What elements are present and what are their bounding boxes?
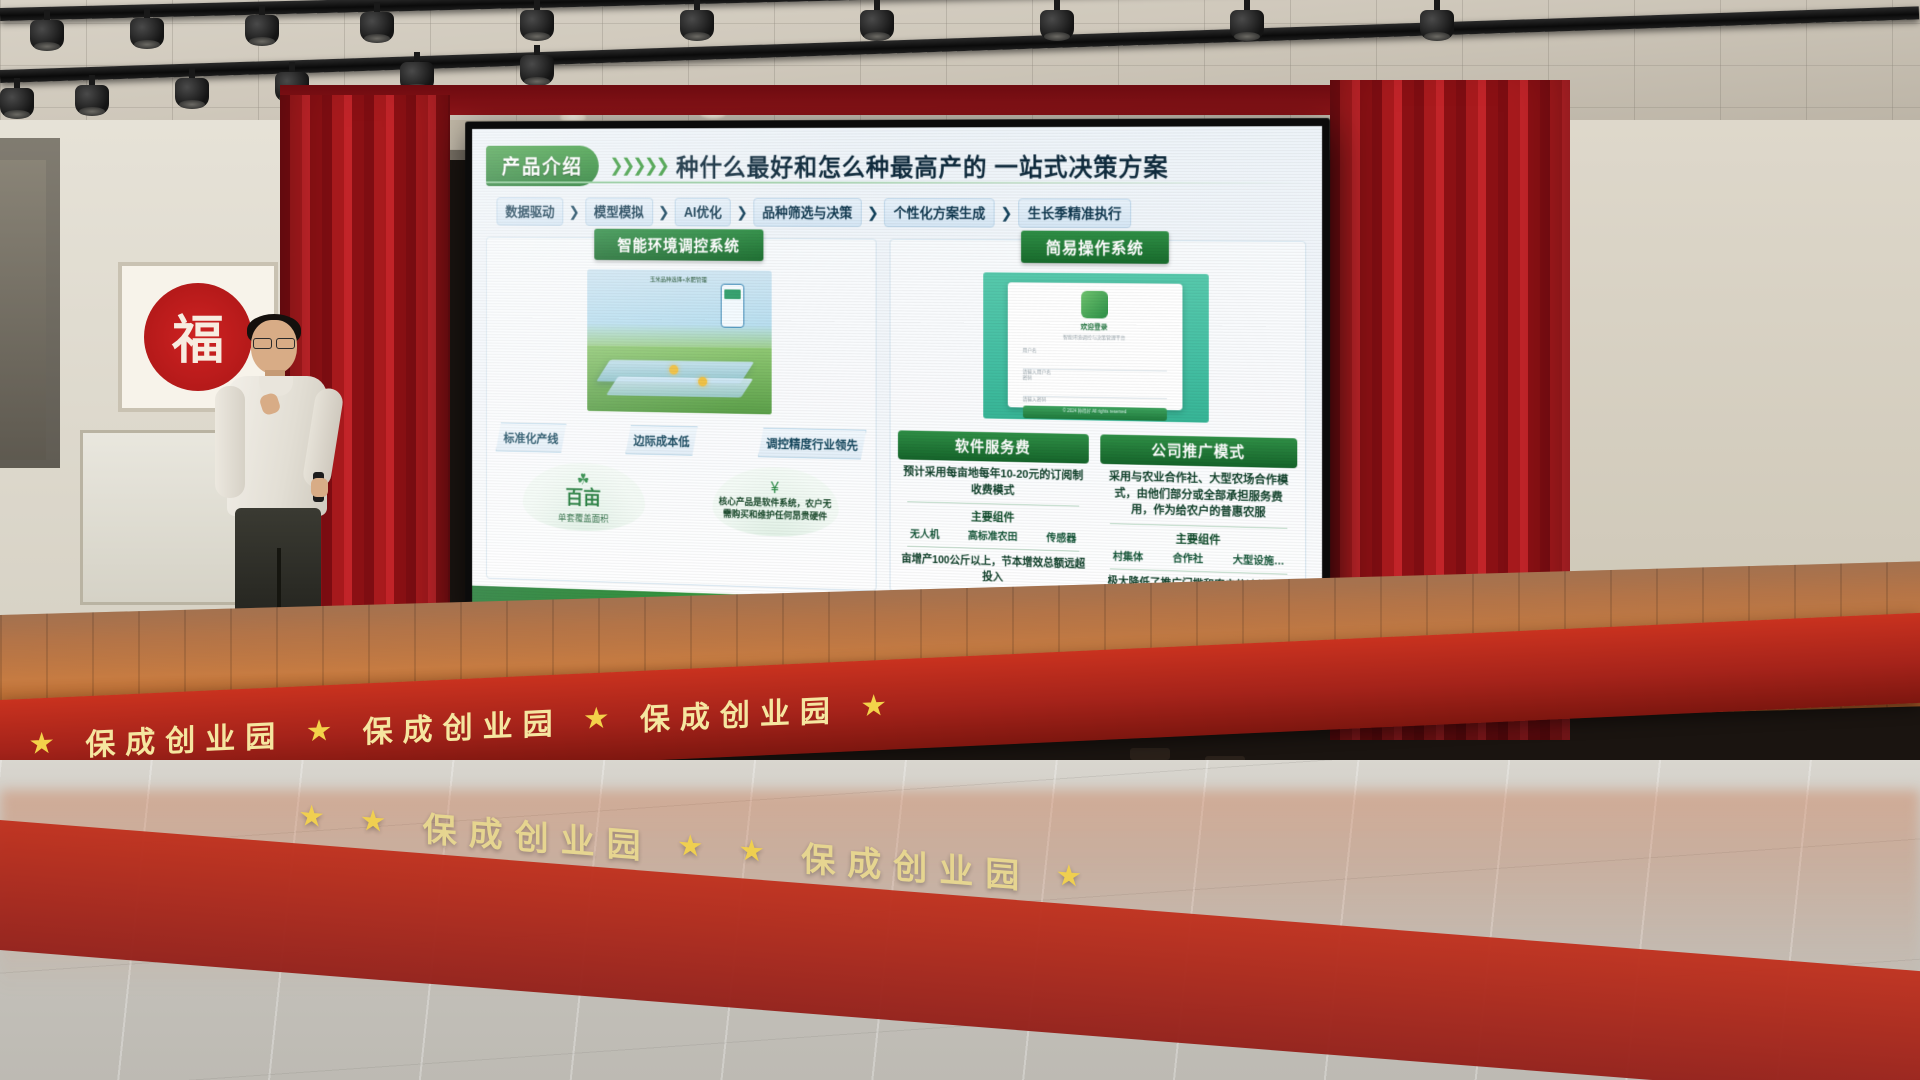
glasses-icon [253,338,295,347]
software-note: 核心产品是软件系统，农户无需购买和维护任何昂贵硬件 [718,497,833,525]
chevron-decoration-icon: ❯❯❯❯❯ [609,155,667,177]
card-software-fee-title: 软件服务费 [898,430,1089,463]
sensor-node-icon [669,365,678,375]
leaf-card-software: ¥ 核心产品是软件系统，农户无需购买和维护任何昂贵硬件 [712,466,838,538]
username-input[interactable]: 请输入用户名 [1023,361,1167,372]
app-subtitle: 智能环境调控与决策管理平台 [1023,333,1167,342]
photo-scene: 福 产品介绍 ❯❯❯❯❯ 种什么最好和怎么种最高产的 一站式决策方案 数据驱动 … [0,0,1920,1080]
star-icon: ★ [361,806,396,839]
app-logo-icon [1081,291,1108,319]
led-screen-frame: 产品介绍 ❯❯❯❯❯ 种什么最好和怎么种最高产的 一站式决策方案 数据驱动 ❯ … [465,118,1330,648]
flow-arrow-icon: ❯ [864,204,881,221]
card-software-fee: 软件服务费 预计采用每亩地每年10-20元的订阅制收费模式 主要组件 无人机 高… [898,430,1089,589]
item: 无人机 [910,527,939,542]
left-taglines: 标准化产线 边际成本低 调控精度行业领先 [494,422,868,459]
panel-right-title: 简易操作系统 [1021,231,1169,264]
spotlight [1230,0,1264,44]
spotlight [30,10,64,54]
star-icon: ★ [1057,861,1092,894]
flow-step-2[interactable]: 模型模拟 [585,198,653,227]
phone-mockup-icon [720,284,744,328]
spotlight [520,0,554,44]
divider [907,546,1079,552]
star-icon: ★ [30,728,63,760]
item: 高标准农田 [968,528,1018,544]
divider [907,502,1079,507]
sensor-node-icon [698,377,707,387]
login-card: 欢迎登录 智能环境调控与决策管理平台 用户名 请输入用户名 密码 请输入密码 [1007,282,1182,410]
illustration-caption: 玉米品种选择+水肥管理 [650,275,707,284]
divider [1110,523,1287,529]
slide-panels: 智能环境调控系统 玉米品种选择+水肥管理 标准化产线 [486,237,1306,606]
door-panel[interactable] [0,160,46,460]
slide-title: 种什么最好和怎么种最高产的 一站式决策方案 [676,148,1169,184]
card-promotion-items: 村集体 合作社 大型设施… [1100,548,1297,569]
floor-marker [1130,748,1170,760]
card-promotion-section: 主要组件 [1100,529,1297,550]
spotlight [75,75,109,119]
isometric-slab [606,377,753,398]
star-icon: ★ [585,703,618,735]
card-software-fee-items: 无人机 高标准农田 传感器 [898,526,1089,546]
password-label: 密码 [1023,374,1167,383]
star-icon: ★ [300,801,335,834]
item: 传感器 [1046,531,1076,547]
app-screenshot: 欢迎登录 智能环境调控与决策管理平台 用户名 请输入用户名 密码 请输入密码 [983,272,1209,422]
venue-name: 保成创业园 [85,711,285,764]
flow-arrow-icon: ❯ [655,203,672,220]
tagline-3: 调控精度行业领先 [758,428,866,460]
flow-step-3[interactable]: AI优化 [675,198,731,227]
spotlight [680,0,714,44]
item: 大型设施… [1233,552,1285,568]
spotlight [1040,0,1074,44]
flow-step-6[interactable]: 生长季精准执行 [1018,198,1131,228]
coverage-value: 百亩 [566,488,601,508]
venue-name: 保成创业园 [801,831,1031,898]
item: 村集体 [1113,549,1143,565]
panel-smart-environment: 智能环境调控系统 玉米品种选择+水肥管理 标准化产线 [486,237,877,592]
password-placeholder: 请输入密码 [1023,397,1047,403]
business-cards: 软件服务费 预计采用每亩地每年10-20元的订阅制收费模式 主要组件 无人机 高… [898,430,1297,596]
card-promotion-body: 采用与农业合作社、大型农场合作模式，由他们部分或全部承担服务费用，作为给农户的普… [1100,464,1297,523]
presentation-slide: 产品介绍 ❯❯❯❯❯ 种什么最好和怎么种最高产的 一站式决策方案 数据驱动 ❯ … [472,126,1322,640]
flow-arrow-icon: ❯ [998,204,1016,222]
card-promotion-title: 公司推广模式 [1100,434,1297,468]
star-icon: ★ [679,831,714,864]
app-title: 欢迎登录 [1023,321,1167,333]
right-hand [311,478,328,497]
sprout-icon: ☘ [577,470,590,489]
led-screen[interactable]: 产品介绍 ❯❯❯❯❯ 种什么最好和怎么种最高产的 一站式决策方案 数据驱动 ❯ … [472,126,1322,640]
yuan-icon: ¥ [771,481,779,498]
coverage-label: 单套覆盖面积 [558,510,609,525]
card-software-fee-section: 主要组件 [898,507,1089,528]
password-input[interactable]: 请输入密码 [1023,388,1167,399]
venue-name: 保成创业园 [363,698,563,751]
star-icon: ★ [740,836,775,869]
flow-arrow-icon: ❯ [566,203,582,220]
left-arm [215,386,245,498]
leaf-cards: ☘ 百亩 单套覆盖面积 ¥ 核心产品是软件系统，农户无需购买和维护任何昂贵硬件 [494,461,868,539]
flow-step-1[interactable]: 数据驱动 [497,197,564,225]
flow-step-4[interactable]: 品种筛选与决策 [753,198,861,227]
username-label: 用户名 [1023,347,1167,356]
star-icon: ★ [862,690,895,722]
divider [1110,568,1287,574]
spotlight [245,5,279,49]
panel-simple-operation: 简易操作系统 欢迎登录 智能环境调控与决策管理平台 用户名 请输入用户名 密 [890,239,1307,606]
card-software-fee-note: 亩增产100公斤以上，节本增效总额远超投入 [898,553,1089,589]
spotlight [175,68,209,112]
flow-arrow-icon: ❯ [734,204,751,221]
tagline-2: 边际成本低 [625,425,697,456]
venue-name: 保成创业园 [640,686,840,739]
slide-section-tag: 产品介绍 [486,146,599,187]
spotlight [520,45,554,89]
process-flow: 数据驱动 ❯ 模型模拟 ❯ AI优化 ❯ 品种筛选与决策 ❯ 个性化方案生成 ❯… [486,197,1306,229]
item: 合作社 [1172,550,1203,566]
tagline-1: 标准化产线 [496,422,567,453]
spotlight [860,0,894,44]
spotlight [130,8,164,52]
card-promotion-model: 公司推广模式 采用与农业合作社、大型农场合作模式，由他们部分或全部承担服务费用，… [1100,434,1297,596]
panel-left-title: 智能环境调控系统 [594,229,763,261]
spotlight [1420,0,1454,44]
environment-illustration: 玉米品种选择+水肥管理 [587,269,771,414]
star-icon: ★ [307,716,340,748]
card-software-fee-body: 预计采用每亩地每年10-20元的订阅制收费模式 [898,459,1089,501]
leaf-card-coverage: ☘ 百亩 单套覆盖面积 [522,461,644,532]
flow-step-5[interactable]: 个性化方案生成 [884,198,995,227]
spotlight [360,2,394,46]
venue-name: 保成创业园 [423,801,653,868]
spotlight [0,78,34,122]
